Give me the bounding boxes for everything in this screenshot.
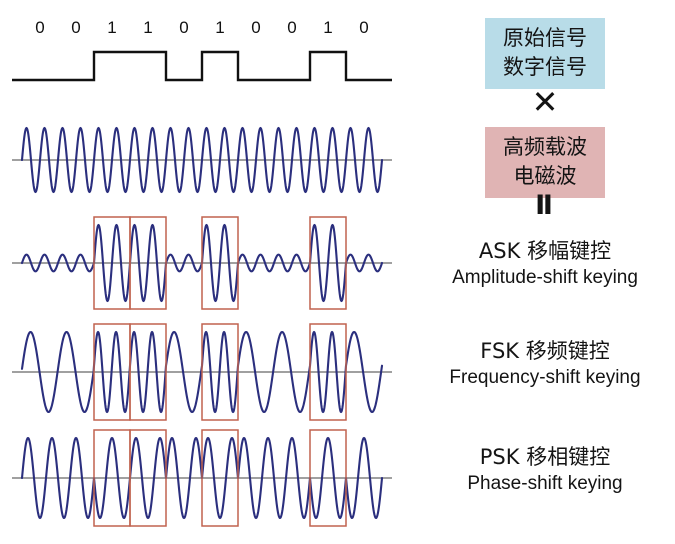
scheme-fsk-english: Frequency-shift keying — [415, 365, 675, 391]
carrier-wave-line-1: 高频载波 — [489, 133, 601, 162]
waveform-panel: 0011010010 — [0, 0, 415, 544]
carrier-wave-box: 高频载波 电磁波 — [485, 127, 605, 198]
source-signal-box: 原始信号 数字信号 — [485, 18, 605, 89]
equals-operator-icon: Ⅱ — [485, 191, 605, 221]
waveform-diagram — [0, 0, 415, 544]
multiply-operator-icon: ✕ — [485, 84, 605, 120]
carrier-signal-trace — [12, 128, 392, 192]
scheme-ask-english: Amplitude-shift keying — [415, 265, 675, 291]
scheme-fsk-abbr: FSK 移频键控 — [415, 337, 675, 365]
scheme-psk-abbr: PSK 移相键控 — [415, 443, 675, 471]
explanation-panel: 原始信号 数字信号 ✕ 高频载波 电磁波 Ⅱ ASK 移幅键控 Amplitud… — [415, 0, 675, 544]
scheme-label-fsk: FSK 移频键控 Frequency-shift keying — [415, 337, 675, 391]
scheme-label-psk: PSK 移相键控 Phase-shift keying — [415, 443, 675, 497]
scheme-ask-abbr: ASK 移幅键控 — [415, 237, 675, 265]
source-signal-line-2: 数字信号 — [489, 53, 601, 82]
source-signal-line-1: 原始信号 — [489, 24, 601, 53]
digital-signal-trace — [12, 52, 392, 80]
carrier-wave-line-2: 电磁波 — [489, 162, 601, 191]
scheme-psk-english: Phase-shift keying — [415, 471, 675, 497]
scheme-label-ask: ASK 移幅键控 Amplitude-shift keying — [415, 237, 675, 291]
